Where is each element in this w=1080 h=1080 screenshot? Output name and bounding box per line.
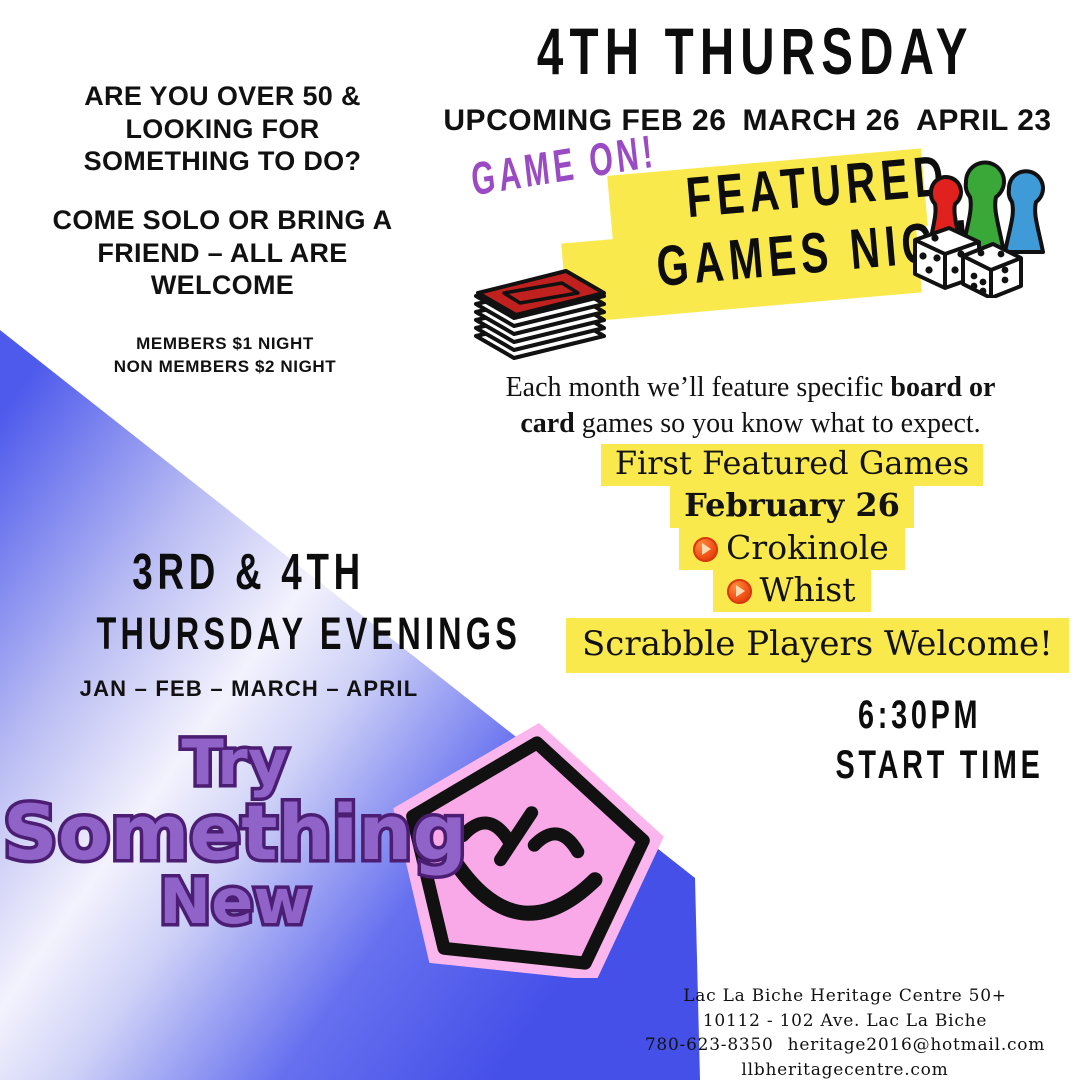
phone-number[interactable]: 780-623-8350 xyxy=(645,1035,774,1055)
die-two xyxy=(963,244,1021,298)
tsn-word-new: New xyxy=(0,873,470,932)
email-address[interactable]: heritage2016@hotmail.com xyxy=(788,1035,1046,1055)
schedule-line-1: 3RD & 4TH xyxy=(133,546,366,597)
play-button-bullet-icon xyxy=(693,537,718,562)
schedule-months: JAN – FEB – MARCH – APRIL xyxy=(14,676,484,702)
games-panel-date: February 26 xyxy=(670,486,914,528)
page-title: 4TH THURSDAY xyxy=(430,18,1080,84)
try-something-new-wordmark: Try Something New xyxy=(0,734,470,932)
start-time-value: 6:30PM xyxy=(858,695,981,735)
scrabble-welcome-note: Scrabble Players Welcome! xyxy=(566,618,1069,673)
playing-card-deck-icon xyxy=(462,262,632,374)
feature-description: Each month we’ll feature specific board … xyxy=(478,370,1023,441)
poster-canvas: ARE YOU OVER 50 & LOOKING FOR SOMETHING … xyxy=(0,0,1080,1080)
game-name-crokinole: Crokinole xyxy=(726,528,889,567)
tsn-word-something: Something xyxy=(0,797,470,869)
schedule-block: 3RD & 4TH THURSDAY EVENINGS JAN – FEB – … xyxy=(14,546,484,702)
featured-games-panel: First Featured Games February 26 Crokino… xyxy=(566,444,1018,673)
game-name-whist: Whist xyxy=(760,570,856,609)
list-item: Whist xyxy=(713,570,872,612)
start-time-block: 6:30PM START TIME xyxy=(795,695,1045,785)
feature-note-part2: games so you know what to expect. xyxy=(575,408,981,439)
venue-address: 10112 - 102 Ave. Lac La Biche xyxy=(620,1009,1070,1034)
play-button-bullet-icon xyxy=(727,579,752,604)
game-pieces-icon xyxy=(893,158,1073,298)
contact-row: 780-623-8350heritage2016@hotmail.com xyxy=(620,1033,1070,1058)
pricing-block: MEMBERS $1 NIGHT NON MEMBERS $2 NIGHT xyxy=(60,333,390,378)
blue-pawn xyxy=(1005,171,1043,252)
headline-text: 4TH THURSDAY xyxy=(537,18,974,84)
left-copy-block: ARE YOU OVER 50 & LOOKING FOR SOMETHING … xyxy=(50,80,395,302)
upcoming-dates: UPCOMING FEB 26MARCH 26APRIL 23 xyxy=(415,104,1080,138)
list-item: Crokinole xyxy=(679,528,905,570)
price-members: MEMBERS $1 NIGHT xyxy=(60,333,390,356)
tsn-word-try: Try xyxy=(0,734,470,793)
come-solo-invite: COME SOLO OR BRING A FRIEND – ALL ARE WE… xyxy=(50,204,395,302)
schedule-line-2: THURSDAY EVENINGS xyxy=(97,611,521,656)
footer-contact-block: Lac La Biche Heritage Centre 50+ 10112 -… xyxy=(620,984,1070,1080)
website-url[interactable]: llbheritagecentre.com xyxy=(620,1058,1070,1080)
start-time-label: START TIME xyxy=(835,745,1043,785)
price-non-members: NON MEMBERS $2 NIGHT xyxy=(60,356,390,379)
feature-note-part1: Each month we’ll feature specific xyxy=(506,372,891,403)
over-50-question: ARE YOU OVER 50 & LOOKING FOR SOMETHING … xyxy=(50,80,395,178)
games-panel-title: First Featured Games xyxy=(601,444,983,486)
venue-name: Lac La Biche Heritage Centre 50+ xyxy=(620,984,1070,1009)
